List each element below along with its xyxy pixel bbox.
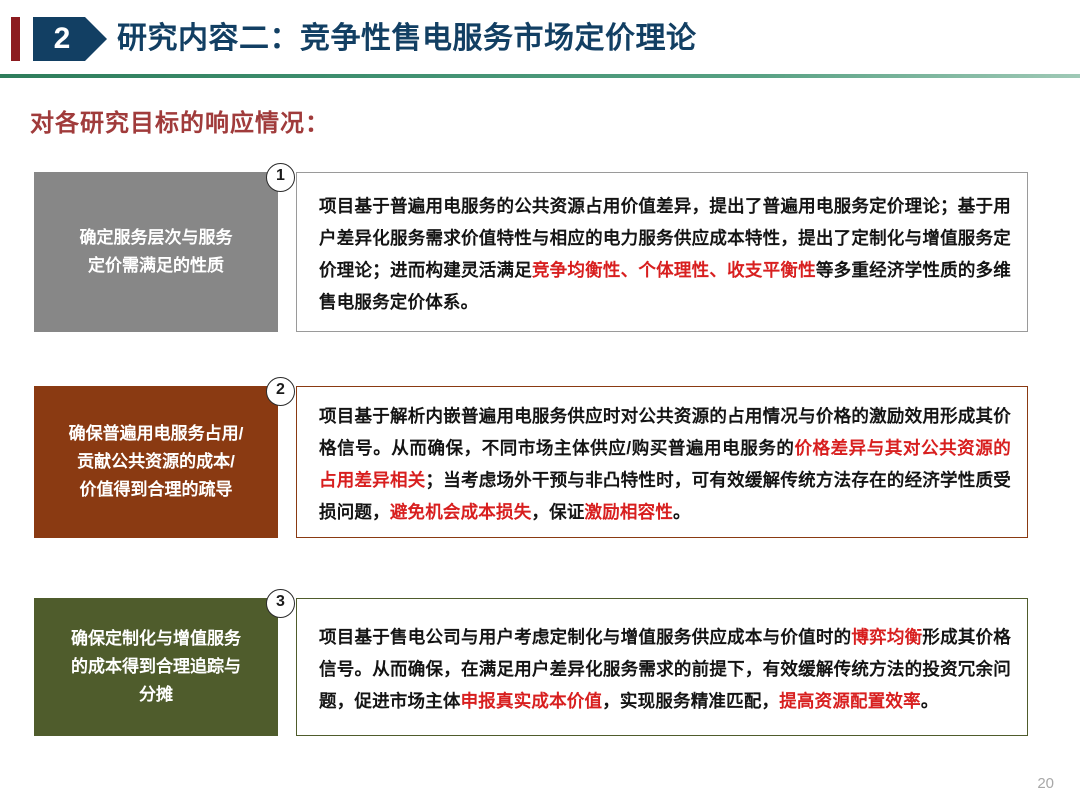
highlight-run: 竞争均衡性、个体理性、收支平衡性 (532, 260, 816, 280)
response-paragraph-1: 项目基于普遍用电服务的公共资源占用价值差异，提出了普遍用电服务定价理论；基于用户… (319, 190, 1011, 318)
header-section-number-badge: 2 (33, 17, 107, 61)
response-row-3: 确保定制化与增值服务 的成本得到合理追踪与 分摊 3 项目基于售电公司与用户考虑… (0, 598, 1080, 736)
goal-label-text-3: 确保定制化与增值服务 的成本得到合理追踪与 分摊 (71, 625, 241, 709)
goal-label-text-2: 确保普遍用电服务占用/ 贡献公共资源的成本/ 价值得到合理的疏导 (69, 420, 244, 504)
highlight-run: 激励相容性 (585, 502, 674, 522)
text-run: ，保证 (531, 502, 584, 522)
response-row-2: 确保普遍用电服务占用/ 贡献公共资源的成本/ 价值得到合理的疏导 2 项目基于解… (0, 386, 1080, 538)
goal-label-box-3: 确保定制化与增值服务 的成本得到合理追踪与 分摊 (34, 598, 278, 736)
response-row-1: 确定服务层次与服务 定价需满足的性质 1 项目基于普遍用电服务的公共资源占用价值… (0, 172, 1080, 332)
goal-label-box-1: 确定服务层次与服务 定价需满足的性质 (34, 172, 278, 332)
text-run: 。 (673, 502, 691, 522)
highlight-run: 申报真实成本价值 (461, 691, 603, 711)
response-text-box-2: 项目基于解析内嵌普遍用电服务供应时对公共资源的占用情况与价格的激励效用形成其价格… (296, 386, 1028, 538)
text-run: ，实现服务精准匹配， (602, 691, 779, 711)
section-subtitle: 对各研究目标的响应情况： (30, 103, 330, 138)
slide-header: 2 研究内容二：竞争性售电服务市场定价理论 (0, 0, 1080, 80)
goal-label-text-1: 确定服务层次与服务 定价需满足的性质 (80, 224, 233, 280)
header-divider-rule (0, 74, 1080, 78)
page-number: 20 (1037, 775, 1054, 792)
text-run: 。 (921, 691, 939, 711)
highlight-run: 避免机会成本损失 (390, 502, 532, 522)
header-section-number: 2 (33, 17, 91, 61)
step-number-badge-3: 3 (266, 589, 295, 618)
goal-label-box-2: 确保普遍用电服务占用/ 贡献公共资源的成本/ 价值得到合理的疏导 (34, 386, 278, 538)
step-number-badge-1: 1 (266, 163, 295, 192)
highlight-run: 博弈均衡 (851, 627, 922, 647)
page-title: 研究内容二：竞争性售电服务市场定价理论 (117, 16, 697, 62)
response-text-box-1: 项目基于普遍用电服务的公共资源占用价值差异，提出了普遍用电服务定价理论；基于用户… (296, 172, 1028, 332)
highlight-run: 提高资源配置效率 (779, 691, 921, 711)
text-run: 项目基于售电公司与用户考虑定制化与增值服务供应成本与价值时的 (319, 627, 851, 647)
response-paragraph-3: 项目基于售电公司与用户考虑定制化与增值服务供应成本与价值时的博弈均衡形成其价格信… (319, 621, 1011, 717)
response-text-box-3: 项目基于售电公司与用户考虑定制化与增值服务供应成本与价值时的博弈均衡形成其价格信… (296, 598, 1028, 736)
header-red-accent-bar (11, 17, 20, 61)
step-number-badge-2: 2 (266, 377, 295, 406)
response-paragraph-2: 项目基于解析内嵌普遍用电服务供应时对公共资源的占用情况与价格的激励效用形成其价格… (319, 400, 1011, 528)
